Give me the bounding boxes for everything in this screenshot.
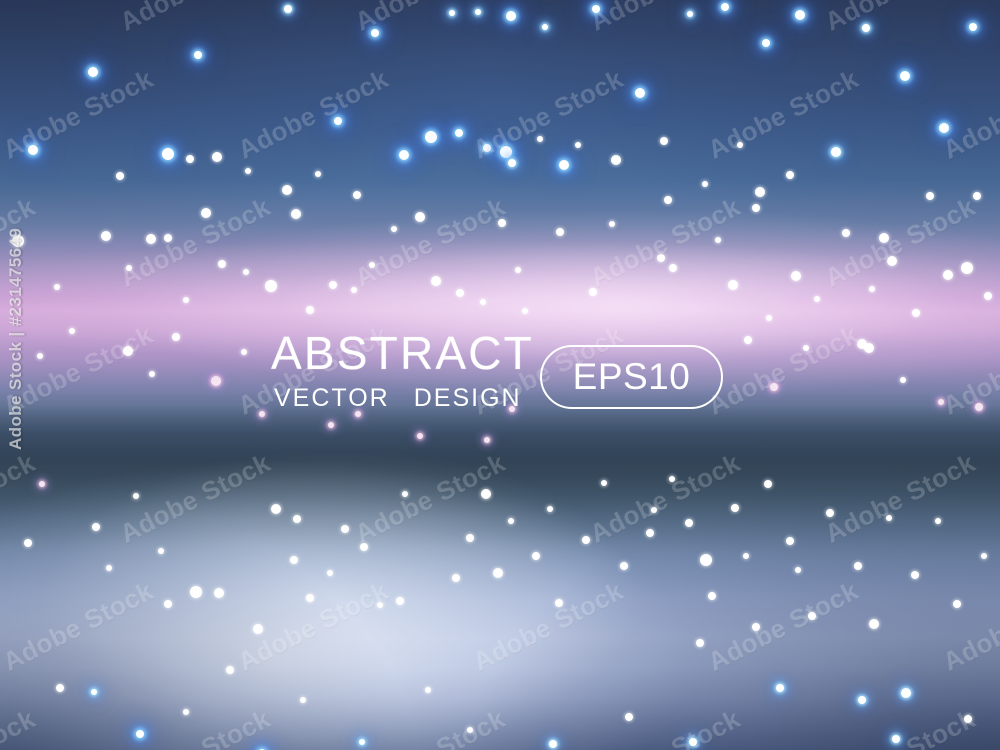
particle-dot bbox=[901, 688, 911, 698]
particle-dot bbox=[826, 509, 834, 517]
particle-dot bbox=[975, 403, 983, 411]
particle-dot bbox=[900, 377, 906, 383]
particle-dot bbox=[431, 276, 441, 286]
particle-dot bbox=[752, 204, 760, 212]
particle-dot bbox=[291, 209, 301, 219]
particle-dot bbox=[700, 554, 712, 566]
particle-dot bbox=[126, 265, 132, 271]
particle-dot bbox=[831, 147, 841, 157]
particle-dot bbox=[506, 11, 516, 21]
particle-dot bbox=[589, 288, 597, 296]
particle-dot bbox=[328, 422, 334, 428]
subtitle-row: VECTORDESIGN bbox=[274, 386, 522, 411]
particle-dot bbox=[28, 145, 38, 155]
particle-dot bbox=[887, 256, 897, 266]
particle-dot bbox=[371, 29, 379, 37]
watermark-text: Adobe Stock bbox=[703, 575, 864, 677]
particle-dot bbox=[900, 71, 910, 81]
particle-dot bbox=[164, 600, 172, 608]
particle-dot bbox=[351, 287, 357, 293]
particle-dot bbox=[559, 160, 569, 170]
particle-dot bbox=[926, 192, 934, 200]
particle-dot bbox=[755, 187, 765, 197]
particle-dot bbox=[508, 518, 514, 524]
particle-dot bbox=[290, 556, 298, 564]
particle-dot bbox=[776, 684, 784, 692]
eps10-badge: EPS10 bbox=[540, 345, 723, 409]
watermark-text: Adobe Stock bbox=[468, 63, 629, 165]
particle-dot bbox=[493, 568, 503, 578]
particle-dot bbox=[315, 171, 321, 177]
particle-dot bbox=[854, 562, 862, 570]
particle-dot bbox=[764, 480, 772, 488]
particle-dot bbox=[212, 152, 222, 162]
particle-dot bbox=[190, 586, 202, 598]
particle-dot bbox=[282, 185, 292, 195]
particle-dot bbox=[964, 715, 972, 723]
particle-dot bbox=[842, 229, 850, 237]
particle-dot bbox=[786, 537, 794, 545]
watermark-text: Adobe Stock bbox=[585, 447, 746, 549]
particle-dot bbox=[892, 735, 900, 743]
watermark-text: Adobe Stock bbox=[820, 447, 981, 549]
particle-dot bbox=[743, 553, 749, 559]
particle-dot bbox=[609, 221, 615, 227]
watermark-text: Adobe Stock bbox=[115, 191, 276, 293]
particle-dot bbox=[133, 493, 139, 499]
particle-dot bbox=[689, 738, 697, 746]
particle-dot bbox=[862, 24, 870, 32]
particle-dot bbox=[814, 296, 820, 302]
eps10-badge-label: EPS10 bbox=[573, 358, 691, 395]
adobe-stock-credit-vertical: Adobe Stock | #231475649 bbox=[6, 228, 26, 450]
particle-dot bbox=[452, 574, 460, 582]
particle-dot bbox=[973, 192, 981, 200]
particle-dot bbox=[417, 433, 423, 439]
particle-dot bbox=[766, 315, 772, 321]
particle-dot bbox=[306, 594, 314, 602]
particle-dot bbox=[24, 539, 32, 547]
particle-dot bbox=[669, 476, 675, 482]
watermark-text: Adobe Stock bbox=[585, 191, 746, 293]
watermark-text: Adobe Stock bbox=[820, 0, 981, 38]
particle-dot bbox=[172, 333, 180, 341]
watermark-text: Adobe Stock bbox=[0, 575, 159, 677]
particle-dot bbox=[91, 689, 97, 695]
particle-dot bbox=[136, 730, 144, 738]
particle-dot bbox=[211, 376, 221, 386]
watermark-text: Adobe Stock bbox=[0, 703, 41, 750]
particle-dot bbox=[696, 639, 704, 647]
particle-dot bbox=[869, 286, 875, 292]
particle-dot bbox=[293, 515, 301, 523]
watermark-text: Adobe Stock bbox=[585, 703, 746, 750]
particle-dot bbox=[194, 51, 202, 59]
particle-dot bbox=[969, 23, 977, 31]
particle-dot bbox=[88, 67, 98, 77]
particle-dot bbox=[245, 168, 251, 174]
particle-dot bbox=[537, 136, 543, 142]
watermark-text: Adobe Stock bbox=[938, 63, 1000, 165]
particle-dot bbox=[651, 507, 657, 513]
particle-dot bbox=[449, 10, 455, 16]
particle-dot bbox=[106, 565, 112, 571]
particle-dot bbox=[786, 171, 794, 179]
particle-dot bbox=[327, 570, 333, 576]
particle-dot bbox=[731, 504, 739, 512]
particle-dot bbox=[123, 346, 133, 356]
particle-dot bbox=[329, 281, 337, 289]
particle-dot bbox=[857, 339, 867, 349]
particle-dot bbox=[669, 264, 677, 272]
particle-dot bbox=[981, 553, 987, 559]
particle-dot bbox=[635, 88, 645, 98]
particle-dot bbox=[415, 212, 425, 222]
particle-dot bbox=[56, 684, 64, 692]
particle-dot bbox=[938, 399, 944, 405]
particle-dot bbox=[186, 155, 194, 163]
particle-dot bbox=[879, 233, 889, 243]
particle-dot bbox=[467, 727, 473, 733]
particle-dot bbox=[752, 623, 760, 631]
particle-dot bbox=[183, 709, 189, 715]
particle-dot bbox=[547, 506, 553, 512]
particle-dot bbox=[39, 481, 45, 487]
watermark-text: Adobe Stock bbox=[350, 703, 511, 750]
watermark-text: Adobe Stock bbox=[233, 575, 394, 677]
watermark-text: Adobe Stock bbox=[585, 0, 746, 38]
subtitle-vector: VECTOR bbox=[274, 384, 390, 412]
particle-dot bbox=[549, 740, 557, 748]
particle-dot bbox=[808, 612, 816, 620]
watermark-text: Adobe Stock bbox=[350, 447, 511, 549]
particle-dot bbox=[146, 234, 156, 244]
subtitle-design: DESIGN bbox=[414, 384, 522, 412]
particle-dot bbox=[795, 567, 801, 573]
particle-dot bbox=[214, 588, 224, 598]
particle-dot bbox=[360, 543, 368, 551]
particle-dot bbox=[770, 383, 778, 391]
particle-dot bbox=[508, 159, 516, 167]
particle-dot bbox=[158, 548, 164, 554]
particle-dot bbox=[935, 518, 941, 524]
particle-dot bbox=[201, 208, 211, 218]
particle-dot bbox=[687, 11, 693, 17]
particle-dot bbox=[869, 619, 879, 629]
particle-dot bbox=[943, 270, 953, 280]
particle-dot bbox=[911, 571, 919, 579]
particle-dot bbox=[522, 308, 528, 314]
watermark-text: Adobe Stock bbox=[938, 575, 1000, 677]
particle-dot bbox=[353, 191, 361, 199]
particle-dot bbox=[481, 489, 491, 499]
particle-dot bbox=[425, 131, 437, 143]
particle-dot bbox=[399, 150, 409, 160]
particle-dot bbox=[37, 353, 43, 359]
particle-dot bbox=[939, 123, 949, 133]
particle-dot bbox=[708, 592, 716, 600]
particle-dot bbox=[466, 534, 474, 542]
particle-dot bbox=[791, 271, 801, 281]
watermark-text: Adobe Stock bbox=[115, 703, 276, 750]
particle-dot bbox=[542, 24, 548, 30]
particle-dot bbox=[961, 262, 973, 274]
watermark-text: Adobe Stock bbox=[0, 0, 41, 38]
particle-dot bbox=[402, 491, 408, 497]
particle-dot bbox=[218, 260, 226, 268]
particle-dot bbox=[886, 515, 892, 521]
particle-dot bbox=[556, 228, 564, 236]
particle-dot bbox=[183, 297, 189, 303]
watermark-text: Adobe Stock bbox=[115, 447, 276, 549]
particle-dot bbox=[484, 437, 490, 443]
particle-dot bbox=[601, 480, 607, 486]
particle-dot bbox=[744, 336, 752, 344]
particle-dot bbox=[243, 269, 249, 275]
particle-dot bbox=[284, 5, 292, 13]
page-title: ABSTRACT bbox=[271, 330, 534, 376]
particle-dot bbox=[480, 299, 486, 305]
watermark-text: Adobe Stock bbox=[820, 703, 981, 750]
particle-dot bbox=[391, 226, 397, 232]
particle-dot bbox=[259, 411, 265, 417]
particle-dot bbox=[953, 600, 961, 608]
particle-dot bbox=[149, 371, 155, 377]
particle-dot bbox=[164, 234, 172, 242]
particle-dot bbox=[795, 10, 805, 20]
watermark-text: Adobe Stock bbox=[233, 63, 394, 165]
particle-dot bbox=[498, 219, 506, 227]
particle-dot bbox=[611, 155, 621, 165]
particle-dot bbox=[300, 697, 306, 703]
particle-dot bbox=[483, 144, 491, 152]
watermark-text: Adobe Stock bbox=[703, 63, 864, 165]
particle-dot bbox=[728, 280, 738, 290]
particle-dot bbox=[341, 525, 349, 533]
particle-dot bbox=[455, 129, 463, 137]
watermark-text: Adobe Stock bbox=[938, 319, 1000, 421]
particle-dot bbox=[92, 523, 100, 531]
particle-dot bbox=[858, 696, 866, 704]
particle-dot bbox=[359, 739, 365, 745]
particle-dot bbox=[646, 529, 654, 537]
watermark-text: Adobe Stock bbox=[350, 191, 511, 293]
particle-dot bbox=[377, 602, 383, 608]
particle-dot bbox=[803, 345, 809, 351]
particle-dot bbox=[54, 284, 60, 290]
particle-dot bbox=[500, 146, 512, 158]
particle-dot bbox=[620, 562, 628, 570]
particle-dot bbox=[265, 280, 277, 292]
particle-dot bbox=[69, 328, 75, 334]
particle-dot bbox=[241, 349, 247, 355]
watermark-text: Adobe Stock bbox=[468, 575, 629, 677]
particle-dot bbox=[456, 289, 464, 297]
watermark-text: Adobe Stock bbox=[115, 0, 276, 38]
particle-dot bbox=[271, 504, 281, 514]
particle-dot bbox=[475, 9, 481, 15]
particle-dot bbox=[685, 519, 693, 527]
abstract-vector-design-artwork: Adobe StockAdobe StockAdobe StockAdobe S… bbox=[0, 0, 1000, 750]
particle-dot bbox=[369, 262, 375, 268]
particle-dot bbox=[532, 552, 540, 560]
particle-dot bbox=[162, 148, 174, 160]
particle-dot bbox=[702, 181, 708, 187]
particle-dot bbox=[253, 624, 263, 634]
watermark-text: Adobe Stock bbox=[0, 447, 41, 549]
particle-dot bbox=[912, 309, 920, 317]
particle-dot bbox=[555, 599, 563, 607]
particle-dot bbox=[101, 231, 111, 241]
particle-dot bbox=[657, 254, 665, 262]
watermark-text: Adobe Stock bbox=[350, 0, 511, 38]
particle-dot bbox=[737, 142, 743, 148]
particle-dot bbox=[762, 39, 770, 47]
particle-dot bbox=[664, 196, 672, 204]
particle-dot bbox=[116, 172, 124, 180]
particle-dot bbox=[306, 306, 314, 314]
particle-dot bbox=[715, 237, 721, 243]
particle-dot bbox=[425, 687, 431, 693]
particle-dot bbox=[396, 597, 404, 605]
watermark-text: Adobe Stock bbox=[0, 63, 159, 165]
particle-dot bbox=[984, 292, 992, 300]
particle-dot bbox=[226, 666, 234, 674]
particle-dot bbox=[592, 5, 600, 13]
particle-dot bbox=[864, 343, 874, 353]
particle-dot bbox=[625, 713, 633, 721]
particle-dot bbox=[582, 536, 590, 544]
particle-dot bbox=[575, 142, 581, 148]
watermark-text: Adobe Stock bbox=[820, 191, 981, 293]
particle-dot bbox=[660, 137, 668, 145]
particle-dot bbox=[334, 117, 342, 125]
particle-dot bbox=[515, 267, 521, 273]
particle-dot bbox=[721, 3, 729, 11]
